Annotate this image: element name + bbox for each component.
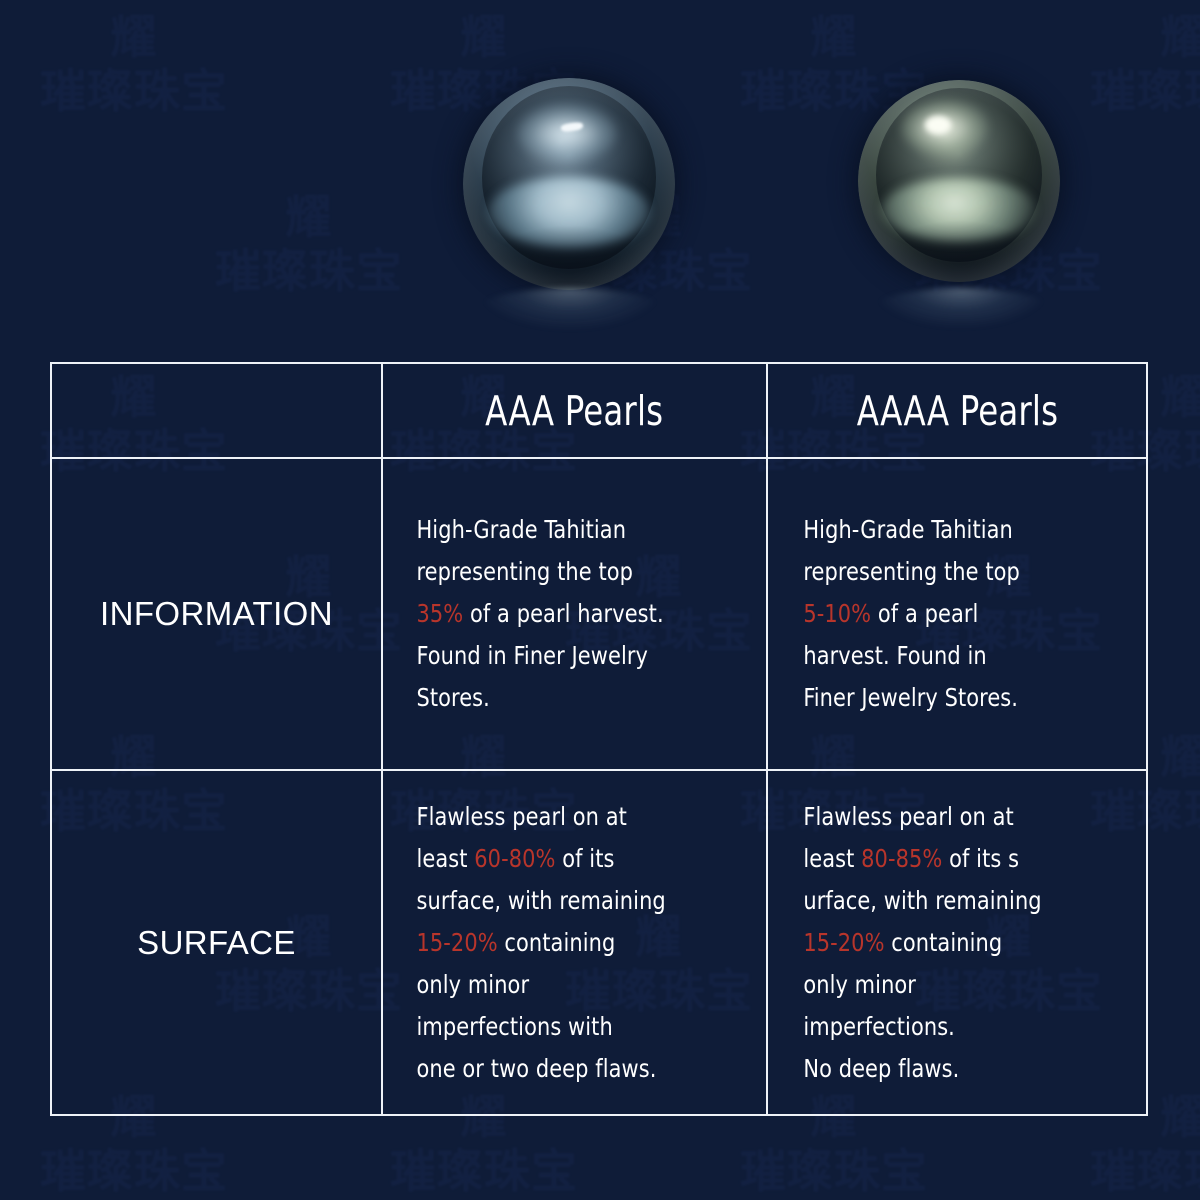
cell-surface-aaa: Flawless pearl on atleast 60-80% of itss… — [383, 771, 768, 1114]
text-fragment: Found in Finer Jewelry — [416, 641, 648, 670]
text-line: No deep flaws. — [803, 1048, 1110, 1090]
pearl-reflection-right — [866, 288, 1056, 340]
highlight-value: 35% — [416, 599, 463, 628]
text-fragment: one or two deep flaws. — [416, 1054, 656, 1083]
cell-surface-aaa-text: Flawless pearl on atleast 60-80% of itss… — [383, 796, 739, 1090]
text-line: 5-10% of a pearl — [803, 593, 1110, 635]
text-line: 35% of a pearl harvest. — [416, 593, 729, 635]
text-line: Flawless pearl on at — [803, 796, 1110, 838]
cell-information-aaa-text: High-Grade Tahitianrepresenting the top3… — [383, 509, 739, 719]
text-line: harvest. Found in — [803, 635, 1110, 677]
text-line: representing the top — [416, 551, 729, 593]
pearl-rim-right — [858, 80, 1060, 282]
text-line: Flawless pearl on at — [416, 796, 729, 838]
highlight-value: 15-20% — [803, 928, 884, 957]
text-line: least 80-85% of its s — [803, 838, 1110, 880]
text-line: only minor — [416, 964, 729, 1006]
highlight-value: 80-85% — [861, 844, 942, 873]
text-fragment: least — [803, 844, 861, 873]
aaa-pearl-image — [463, 78, 675, 290]
text-fragment: representing the top — [416, 557, 633, 586]
cell-information-aaa: High-Grade Tahitianrepresenting the top3… — [383, 459, 768, 771]
cell-information-aaaa-text: High-Grade Tahitianrepresenting the top5… — [768, 509, 1120, 719]
text-fragment: only minor — [803, 970, 916, 999]
column-header-aaaa: AAAA Pearls — [768, 364, 1146, 459]
text-fragment: of a pearl harvest. — [463, 599, 663, 628]
text-fragment: High-Grade Tahitian — [803, 515, 1013, 544]
column-header-aaaa-label: AAAA Pearls — [856, 387, 1057, 435]
highlight-value: 15-20% — [416, 928, 497, 957]
column-header-aaa: AAA Pearls — [383, 364, 768, 459]
cell-surface-aaaa: Flawless pearl on atleast 80-85% of its … — [768, 771, 1146, 1114]
text-fragment: Flawless pearl on at — [416, 802, 626, 831]
text-line: 15-20% containing — [416, 922, 729, 964]
text-line: representing the top — [803, 551, 1110, 593]
text-fragment: containing — [885, 928, 1003, 957]
highlight-value: 5-10% — [803, 599, 871, 628]
text-fragment: imperfections. — [803, 1012, 955, 1041]
table-corner-cell — [52, 364, 383, 459]
text-line: 15-20% containing — [803, 922, 1110, 964]
cell-surface-aaaa-text: Flawless pearl on atleast 80-85% of its … — [768, 796, 1120, 1090]
text-line: High-Grade Tahitian — [416, 509, 729, 551]
row-label-surface-text: SURFACE — [137, 924, 296, 962]
text-line: Finer Jewelry Stores. — [803, 677, 1110, 719]
text-fragment: containing — [498, 928, 616, 957]
grade-comparison-table: AAA Pearls AAAA Pearls INFORMATION High-… — [50, 362, 1148, 1116]
text-fragment: No deep flaws. — [803, 1054, 959, 1083]
highlight-value: 60-80% — [474, 844, 555, 873]
text-line: imperfections with — [416, 1006, 729, 1048]
text-line: imperfections. — [803, 1006, 1110, 1048]
pearl-sphere-right — [858, 80, 1060, 282]
pearl-hero-section — [0, 0, 1200, 360]
text-fragment: least — [416, 844, 474, 873]
text-fragment: imperfections with — [416, 1012, 612, 1041]
text-fragment: Flawless pearl on at — [803, 802, 1013, 831]
text-line: High-Grade Tahitian — [803, 509, 1110, 551]
aaaa-pearl-image — [858, 80, 1060, 282]
pearl-sphere-left — [463, 78, 675, 290]
column-header-aaa-label: AAA Pearls — [485, 387, 663, 435]
text-line: least 60-80% of its — [416, 838, 729, 880]
text-fragment: only minor — [416, 970, 529, 999]
pearl-rim-left — [463, 78, 675, 290]
text-fragment: of its — [556, 844, 615, 873]
text-fragment: Stores. — [416, 683, 489, 712]
row-label-information: INFORMATION — [52, 459, 383, 771]
row-label-surface: SURFACE — [52, 771, 383, 1114]
text-line: only minor — [803, 964, 1110, 1006]
text-fragment: of a pearl — [871, 599, 978, 628]
text-fragment: representing the top — [803, 557, 1020, 586]
text-fragment: surface, with remaining — [416, 886, 665, 915]
text-fragment: urface, with remaining — [803, 886, 1041, 915]
pearl-comparison-page: 耀 璀璨珠宝耀 璀璨珠宝耀 璀璨珠宝耀 璀璨珠宝耀 璀璨珠宝耀 璀璨珠宝耀 璀璨… — [0, 0, 1200, 1200]
text-fragment: High-Grade Tahitian — [416, 515, 626, 544]
text-line: urface, with remaining — [803, 880, 1110, 922]
cell-information-aaaa: High-Grade Tahitianrepresenting the top5… — [768, 459, 1146, 771]
text-line: one or two deep flaws. — [416, 1048, 729, 1090]
text-fragment: harvest. Found in — [803, 641, 986, 670]
pearl-reflection-left — [470, 288, 670, 342]
row-label-information-text: INFORMATION — [100, 595, 333, 633]
text-line: Found in Finer Jewelry — [416, 635, 729, 677]
text-fragment: of its s — [942, 844, 1019, 873]
text-line: Stores. — [416, 677, 729, 719]
text-fragment: Finer Jewelry Stores. — [803, 683, 1018, 712]
text-line: surface, with remaining — [416, 880, 729, 922]
